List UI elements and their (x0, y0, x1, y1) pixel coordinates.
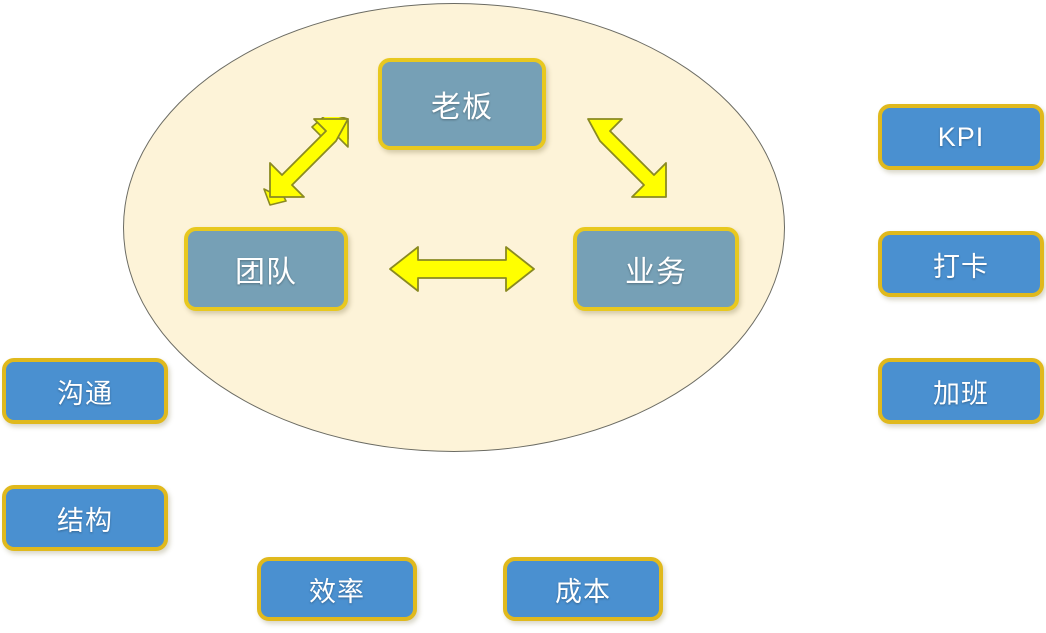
node-team[interactable]: 团队 (184, 227, 348, 311)
node-team-label: 团队 (235, 247, 297, 291)
arrow-team-business (388, 243, 536, 295)
arrow-team-boss (252, 117, 352, 209)
node-cost-label: 成本 (555, 570, 611, 609)
node-efficiency[interactable]: 效率 (257, 557, 417, 621)
node-overtime-label: 加班 (933, 372, 989, 411)
node-overtime[interactable]: 加班 (878, 358, 1044, 424)
node-communication-label: 沟通 (57, 372, 113, 411)
node-structure-label: 结构 (57, 499, 113, 538)
node-clock-in-label: 打卡 (933, 245, 989, 284)
node-kpi[interactable]: KPI (878, 104, 1044, 170)
node-structure[interactable]: 结构 (2, 485, 168, 551)
node-boss-label: 老板 (431, 82, 493, 126)
node-cost[interactable]: 成本 (503, 557, 663, 621)
node-communication[interactable]: 沟通 (2, 358, 168, 424)
arrow-boss-business (584, 117, 684, 209)
node-efficiency-label: 效率 (309, 570, 365, 609)
node-clock-in[interactable]: 打卡 (878, 231, 1044, 297)
node-boss[interactable]: 老板 (378, 58, 546, 150)
diagram-canvas: 老板 团队 业务 KPI 打卡 加班 沟通 结构 效率 成本 (0, 0, 1046, 633)
node-business-label: 业务 (625, 247, 687, 291)
node-business[interactable]: 业务 (573, 227, 739, 311)
node-kpi-label: KPI (938, 122, 985, 153)
